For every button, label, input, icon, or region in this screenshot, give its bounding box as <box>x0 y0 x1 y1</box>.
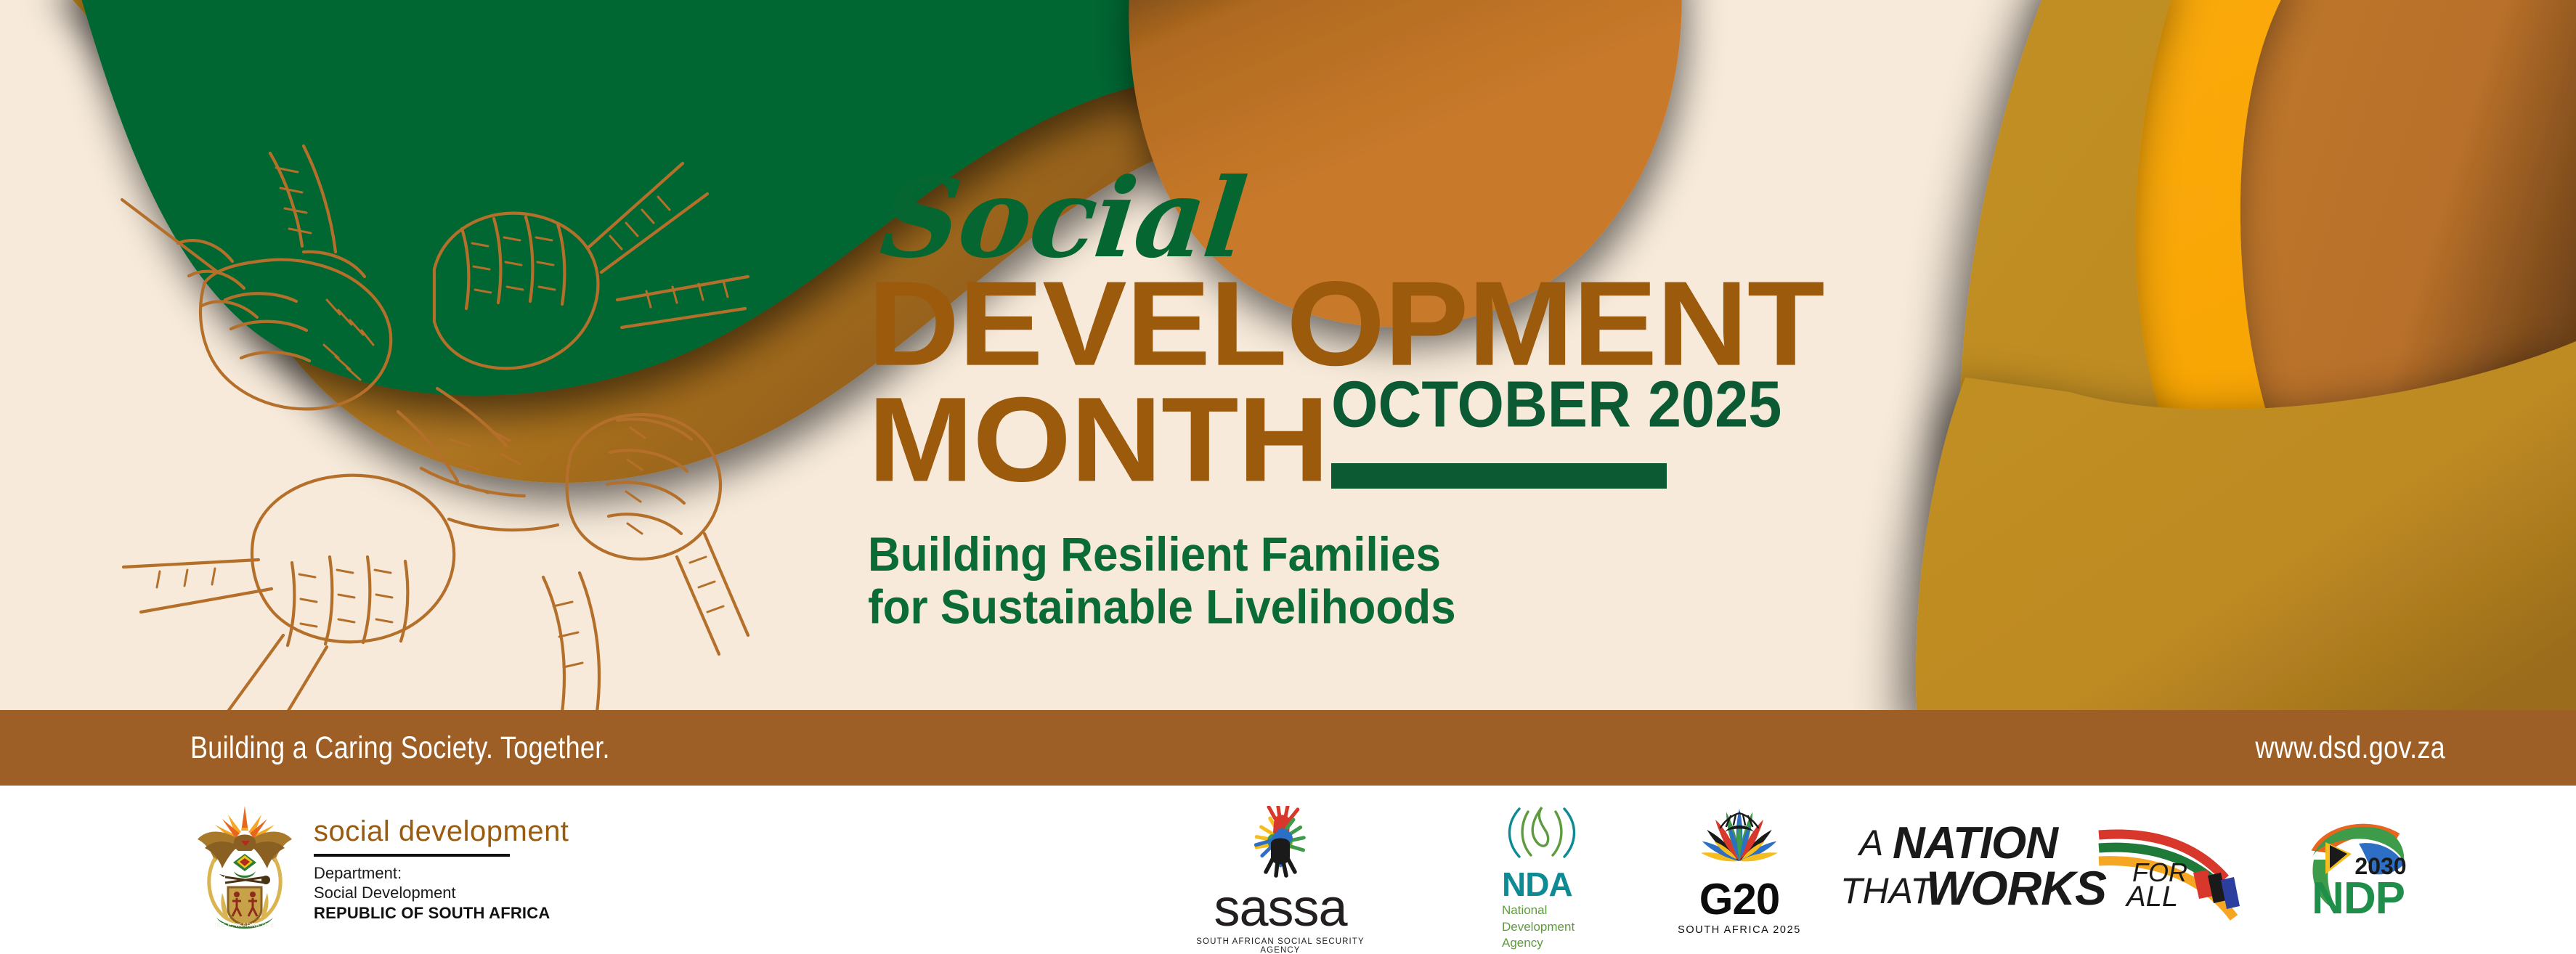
logo-dsd-line-2: Social Development <box>314 884 569 903</box>
partner-logo-strip: !KE E: /XARRA //KE social development De… <box>0 786 2576 954</box>
logo-dsd-line-1: Department: <box>314 864 569 884</box>
tagline-line-1: Building Resilient Families <box>868 529 1739 582</box>
logo-sassa: sassa SOUTH AFRICAN SOCIAL SECURITY AGEN… <box>1182 806 1378 954</box>
logo-nda-line-1: National <box>1502 903 1640 918</box>
headline-development: DEVELOPMENT <box>868 272 1896 376</box>
headline-script-social: Social <box>877 167 1750 271</box>
headline-tagline: Building Resilient Families for Sustaina… <box>868 529 1739 635</box>
svg-text:!KE E: /XARRA //KE: !KE E: /XARRA //KE <box>215 922 275 929</box>
logo-sassa-wordmark: sassa <box>1182 885 1378 932</box>
logo-dsd-title: social development <box>314 815 569 848</box>
svg-text:ALL: ALL <box>2125 881 2178 913</box>
logo-dsd: !KE E: /XARRA //KE social development De… <box>190 802 569 937</box>
logo-g20: G20 SOUTH AFRICA 2025 <box>1670 807 1808 936</box>
headline-date-block: OCTOBER 2025 <box>1331 383 1734 492</box>
nda-leaf-swirl-icon <box>1502 804 1640 866</box>
svg-text:THAT: THAT <box>1840 871 1935 911</box>
logo-sassa-subtitle: SOUTH AFRICAN SOCIAL SECURITY AGENCY <box>1182 937 1378 954</box>
logo-nda-line-2: Development <box>1502 920 1640 934</box>
headline-month-row: MONTH OCTOBER 2025 <box>868 383 1739 492</box>
svg-text:WORKS: WORKS <box>1926 861 2107 915</box>
logo-nda: NDA National Development Agency <box>1502 804 1640 950</box>
sassa-hands-circle-icon <box>1182 806 1378 882</box>
logo-g20-wordmark: G20 <box>1670 878 1808 921</box>
logo-dsd-line-3: REPUBLIC OF SOUTH AFRICA <box>314 903 569 924</box>
logo-g20-subtitle: SOUTH AFRICA 2025 <box>1670 924 1808 936</box>
logo-nda-wordmark: NDA <box>1502 868 1640 901</box>
logo-dsd-text: social development Department: Social De… <box>314 815 569 923</box>
headline-block: Social DEVELOPMENT MONTH OCTOBER 2025 Bu… <box>868 167 1739 628</box>
headline-green-rule <box>1331 463 1667 489</box>
logo-ndp-wordmark: NDP <box>2312 873 2405 924</box>
social-development-month-banner: Social DEVELOPMENT MONTH OCTOBER 2025 Bu… <box>0 0 2576 954</box>
logo-nda-line-3: Agency <box>1502 936 1640 950</box>
tagline-line-2: for Sustainable Livelihoods <box>868 582 1739 634</box>
sa-coat-of-arms-icon: !KE E: /XARRA //KE <box>190 802 299 937</box>
footer-website-url[interactable]: www.dsd.gov.za <box>2255 730 2445 766</box>
logo-ndp-2030: 2030 NDP <box>2289 804 2427 937</box>
svg-text:A: A <box>1857 823 1883 863</box>
footer-bar: Building a Caring Society. Together. www… <box>0 710 2576 786</box>
footer-slogan: Building a Caring Society. Together. <box>190 730 610 766</box>
g20-protea-flower-icon <box>1670 807 1808 878</box>
four-interlocking-hands-illustration <box>109 127 763 730</box>
headline-month: MONTH <box>868 388 1328 492</box>
logo-a-nation-that-works-for-all: A NATION THAT WORKS FOR ALL <box>1833 803 2251 937</box>
logo-dsd-divider <box>314 854 510 857</box>
headline-date: OCTOBER 2025 <box>1331 371 1781 436</box>
